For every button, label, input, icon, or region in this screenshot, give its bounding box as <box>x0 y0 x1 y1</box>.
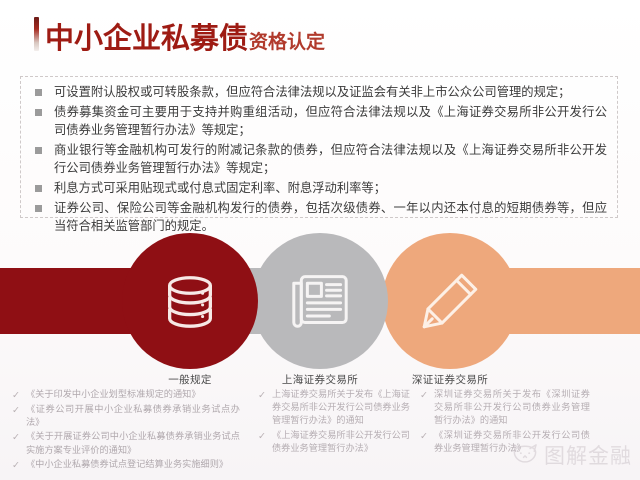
category-circle-general[interactable] <box>122 233 258 369</box>
checklist-text: 深圳证券交易所关于发布《深圳证券交易所非公开发行公司债券业务管理暂行办法》的通知 <box>434 388 590 428</box>
check-icon: ✓ <box>420 430 430 443</box>
check-icon: ✓ <box>420 389 430 402</box>
check-icon: ✓ <box>12 431 22 444</box>
list-item: 利息方式可采用贴现式或付息式固定利率、附息浮动利率等； <box>33 179 607 198</box>
square-bullet-icon <box>35 205 42 212</box>
list-item: 证券公司、保险公司等金融机构发行的债券，包括次级债券、一年以内还本付息的短期债券… <box>33 199 607 236</box>
list-item: ✓ 深圳证券交易所关于发布《深圳证券交易所非公开发行公司债券业务管理暂行办法》的… <box>420 388 590 428</box>
check-icon: ✓ <box>12 404 22 417</box>
square-bullet-icon <box>35 109 42 116</box>
gradient-bar-icon <box>34 17 39 51</box>
list-item: ✓ 《中小企业私募债券试点登记结算业务实施细则》 <box>12 458 240 472</box>
list-item: ✓ 《上海证券交易所非公开发行公司债券业务管理暂行办法》 <box>258 429 410 455</box>
checklist-text: 《证券公司开展中小企业私募债券承销业务试点办法》 <box>26 403 240 429</box>
checklist-text: 《上海证券交易所非公开发行公司债券业务管理暂行办法》 <box>272 429 410 455</box>
checklist-general: ✓ 《关于印发中小企业划型标准规定的通知》 ✓ 《证券公司开展中小企业私募债券承… <box>12 388 240 473</box>
check-icon: ✓ <box>12 459 22 472</box>
slide-canvas: 中小企业私募债 资格认定 可设置附认股权或可转股条款，但应符合法律法规以及证监会… <box>0 0 640 480</box>
category-label-szse: 深证证券交易所 <box>370 372 530 387</box>
bullet-text: 可设置附认股权或可转股条款，但应符合法律法规以及证监会有关非上市公众公司管理的规… <box>54 83 607 102</box>
page-title-sub: 资格认定 <box>249 31 325 53</box>
checklist-text: 《关于开展证券公司中小企业私募债券承销业务试点实施方案专业评价的通知》 <box>26 430 240 456</box>
checklist-sse: ✓ 上海证券交易所关于发布《上海证券交易所非公开发行公司债券业务管理暂行办法》的… <box>258 388 410 456</box>
pencil-icon <box>420 271 480 331</box>
check-icon: ✓ <box>258 430 268 443</box>
page-title: 中小企业私募债 资格认定 <box>34 10 325 54</box>
check-icon: ✓ <box>12 389 22 402</box>
bullet-list-panel: 可设置附认股权或可转股条款，但应符合法律法规以及证监会有关非上市公众公司管理的规… <box>20 76 618 218</box>
square-bullet-icon <box>35 185 42 192</box>
newspaper-icon <box>290 272 350 330</box>
square-bullet-icon <box>35 89 42 96</box>
list-item: 可设置附认股权或可转股条款，但应符合法律法规以及证监会有关非上市公众公司管理的规… <box>33 83 607 102</box>
checklist-text: 上海证券交易所关于发布《上海证券交易所非公开发行公司债券业务管理暂行办法》的通知 <box>272 388 410 428</box>
watermark: 图解金融 <box>510 440 632 470</box>
checklist-text: 《关于印发中小企业划型标准规定的通知》 <box>26 388 240 401</box>
bullet-text: 商业银行等金融机构可发行的附减记条款的债券，但应符合法律法规以及《上海证券交易所… <box>54 141 607 178</box>
bullet-text: 债券募集资金可主要用于支持并购重组活动，但应符合法律法规以及《上海证券交易所非公… <box>54 103 607 140</box>
page-title-main: 中小企业私募债 <box>45 22 248 54</box>
cat-logo-icon <box>510 443 540 467</box>
list-item: ✓ 《证券公司开展中小企业私募债券承销业务试点办法》 <box>12 403 240 429</box>
category-circle-szse[interactable] <box>382 233 518 369</box>
list-item: 商业银行等金融机构可发行的附减记条款的债券，但应符合法律法规以及《上海证券交易所… <box>33 141 607 178</box>
bullet-text: 证券公司、保险公司等金融机构发行的债券，包括次级债券、一年以内还本付息的短期债券… <box>54 199 607 236</box>
square-bullet-icon <box>35 147 42 154</box>
watermark-text: 图解金融 <box>544 440 632 470</box>
checklist-text: 《中小企业私募债券试点登记结算业务实施细则》 <box>26 458 240 471</box>
database-icon <box>159 270 221 332</box>
check-icon: ✓ <box>258 389 268 402</box>
bullet-text: 利息方式可采用贴现式或付息式固定利率、附息浮动利率等； <box>54 179 607 198</box>
list-item: ✓ 《关于开展证券公司中小企业私募债券承销业务试点实施方案专业评价的通知》 <box>12 430 240 456</box>
category-circle-sse[interactable] <box>252 233 388 369</box>
list-item: ✓ 《关于印发中小企业划型标准规定的通知》 <box>12 388 240 402</box>
list-item: ✓ 上海证券交易所关于发布《上海证券交易所非公开发行公司债券业务管理暂行办法》的… <box>258 388 410 428</box>
list-item: 债券募集资金可主要用于支持并购重组活动，但应符合法律法规以及《上海证券交易所非公… <box>33 103 607 140</box>
